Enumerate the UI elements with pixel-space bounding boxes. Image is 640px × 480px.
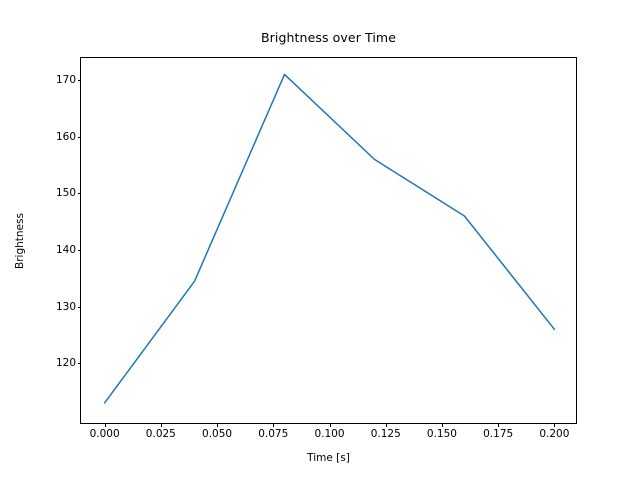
y-tick-label: 130 bbox=[56, 301, 76, 313]
y-tick-mark bbox=[78, 363, 82, 364]
x-tick-label: 0.175 bbox=[483, 428, 513, 440]
x-tick-mark bbox=[330, 423, 331, 427]
y-tick-label: 120 bbox=[56, 357, 76, 369]
x-tick-mark bbox=[273, 423, 274, 427]
x-tick-label: 0.000 bbox=[90, 428, 120, 440]
x-tick-label: 0.025 bbox=[146, 428, 176, 440]
y-tick-label: 160 bbox=[56, 131, 76, 143]
y-axis-label: Brightness bbox=[13, 57, 27, 424]
x-tick-label: 0.200 bbox=[539, 428, 569, 440]
x-tick-label: 0.050 bbox=[202, 428, 232, 440]
x-tick-label: 0.075 bbox=[258, 428, 288, 440]
x-tick-mark bbox=[161, 423, 162, 427]
x-tick-label: 0.100 bbox=[314, 428, 344, 440]
x-tick-mark bbox=[442, 423, 443, 427]
x-tick-mark bbox=[386, 423, 387, 427]
y-tick-mark bbox=[78, 250, 82, 251]
y-tick-mark bbox=[78, 80, 82, 81]
x-axis-label: Time [s] bbox=[80, 452, 577, 464]
x-tick-label: 0.150 bbox=[427, 428, 457, 440]
matplotlib-figure: Brightness over Time 1201301401501601700… bbox=[0, 0, 640, 480]
y-tick-mark bbox=[78, 193, 82, 194]
x-tick-mark bbox=[554, 423, 555, 427]
y-tick-label: 170 bbox=[56, 74, 76, 86]
chart-title: Brightness over Time bbox=[80, 30, 577, 45]
y-axis-label-text: Brightness bbox=[14, 213, 26, 269]
y-tick-mark bbox=[78, 307, 82, 308]
plot-area bbox=[81, 58, 578, 425]
x-tick-mark bbox=[217, 423, 218, 427]
y-tick-label: 150 bbox=[56, 187, 76, 199]
data-series-line bbox=[105, 74, 555, 402]
y-tick-label: 140 bbox=[56, 244, 76, 256]
y-tick-mark bbox=[78, 137, 82, 138]
x-tick-mark bbox=[498, 423, 499, 427]
x-tick-mark bbox=[105, 423, 106, 427]
x-tick-label: 0.125 bbox=[371, 428, 401, 440]
plot-axes: 1201301401501601700.0000.0250.0500.0750.… bbox=[80, 57, 577, 424]
